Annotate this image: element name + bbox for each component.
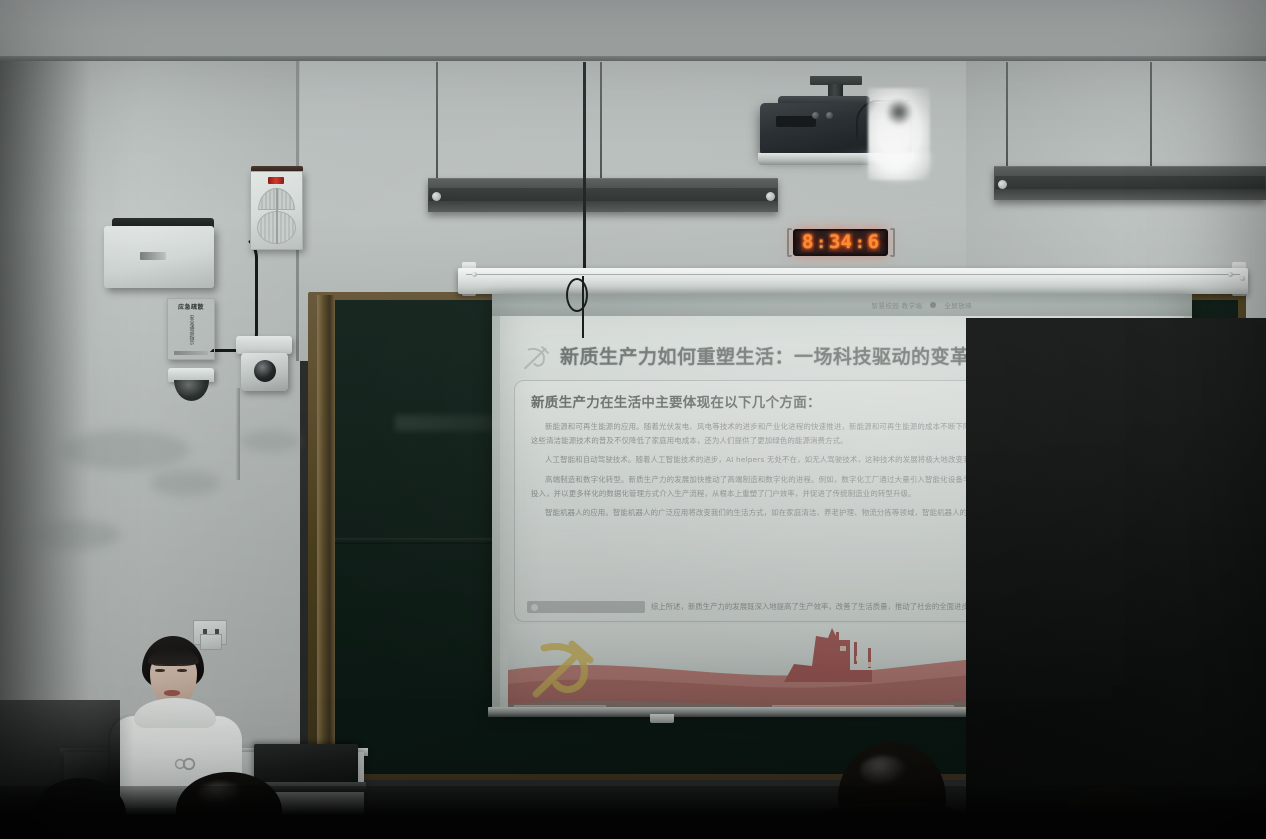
ceiling-cord — [583, 62, 586, 278]
speaker-power-led — [268, 177, 284, 184]
wall-conduit — [236, 388, 240, 480]
lamp-end-cap — [432, 192, 441, 201]
presenter-eyebrow — [154, 664, 166, 666]
equipment-cable — [210, 232, 258, 352]
lamp-rod — [1150, 62, 1152, 168]
projector-vent — [776, 116, 816, 127]
clock-hours: 8 — [801, 233, 814, 252]
presenter-mouth — [164, 690, 180, 696]
bracket-screw — [472, 272, 477, 277]
screen-cord[interactable] — [582, 276, 584, 338]
notice-footer-line — [174, 351, 208, 355]
fullscreen-icon[interactable] — [930, 302, 936, 308]
projector-glare-spill — [862, 152, 934, 184]
party-emblem-icon — [520, 342, 554, 374]
fluorescent-light-fixture — [994, 166, 1266, 200]
clock-bracket-right — [890, 228, 895, 257]
foreground-shadow — [0, 786, 1266, 839]
laptop-screen — [254, 744, 358, 784]
student-hair-highlight — [860, 756, 908, 786]
projector-knob — [812, 112, 819, 119]
clock-minutes: 34 — [828, 233, 853, 252]
lamp-end-cap — [766, 192, 775, 201]
camera-lens-icon — [254, 360, 276, 382]
emergency-notice-plate: 应急疏散 安全通道指示 — [167, 298, 215, 360]
lamp-rod — [1006, 62, 1008, 168]
projector-knob — [826, 112, 833, 119]
notice-vertical-text: 安全通道指示 — [188, 315, 195, 349]
footer-overlay-pill — [527, 601, 645, 613]
clock-colon-2: : — [855, 235, 865, 251]
presenter-hood — [134, 698, 216, 728]
screen-cord-loop[interactable] — [566, 278, 588, 312]
browser-tab-label[interactable]: 智慧校园·教学端 — [872, 300, 923, 310]
wall-smudge — [150, 470, 220, 496]
blackboard-left-edge — [317, 295, 335, 780]
wall-smudge — [30, 520, 120, 550]
footer-pill-icon — [531, 604, 538, 611]
screen-pull-tab[interactable] — [650, 714, 674, 723]
presenter-eye — [155, 669, 165, 672]
notice-title: 应急疏散 — [172, 305, 210, 311]
wall-smudge — [240, 430, 300, 452]
fluorescent-light-fixture — [428, 178, 778, 212]
wall-smudge — [60, 430, 190, 470]
equipment-box-logo — [140, 252, 166, 260]
ptz-camera-mount — [236, 336, 292, 354]
bracket-screw — [1228, 272, 1233, 277]
hoodie-logo-icon — [174, 756, 196, 772]
lamp-end-cap — [998, 180, 1007, 189]
right-side-shadow — [966, 318, 1266, 839]
party-emblem-hammer-sickle-icon — [522, 634, 604, 706]
presenter-eyebrow — [176, 664, 188, 666]
ceiling — [0, 0, 1266, 62]
bracket-screw — [1240, 276, 1245, 281]
projector-lens-hotspot — [886, 97, 912, 127]
lamp-rod — [600, 62, 602, 180]
classroom-scene: 8 : 34 : 6 应急疏散 安全通道指示 — [0, 0, 1266, 839]
clock-colon-1: : — [816, 235, 826, 251]
presenter-eye — [177, 669, 187, 672]
red-boat-silhouette-icon — [776, 626, 906, 704]
speaker-center-seam — [276, 188, 278, 244]
lamp-rod — [436, 62, 438, 180]
clock-bracket-left — [787, 228, 792, 257]
clock-seconds: 6 — [867, 233, 880, 252]
browser-chrome-bar[interactable]: 智慧校园·教学端 全屏放映 — [492, 294, 1192, 316]
fullscreen-label[interactable]: 全屏放映 — [944, 300, 972, 310]
led-wall-clock: 8 : 34 : 6 — [793, 229, 888, 256]
